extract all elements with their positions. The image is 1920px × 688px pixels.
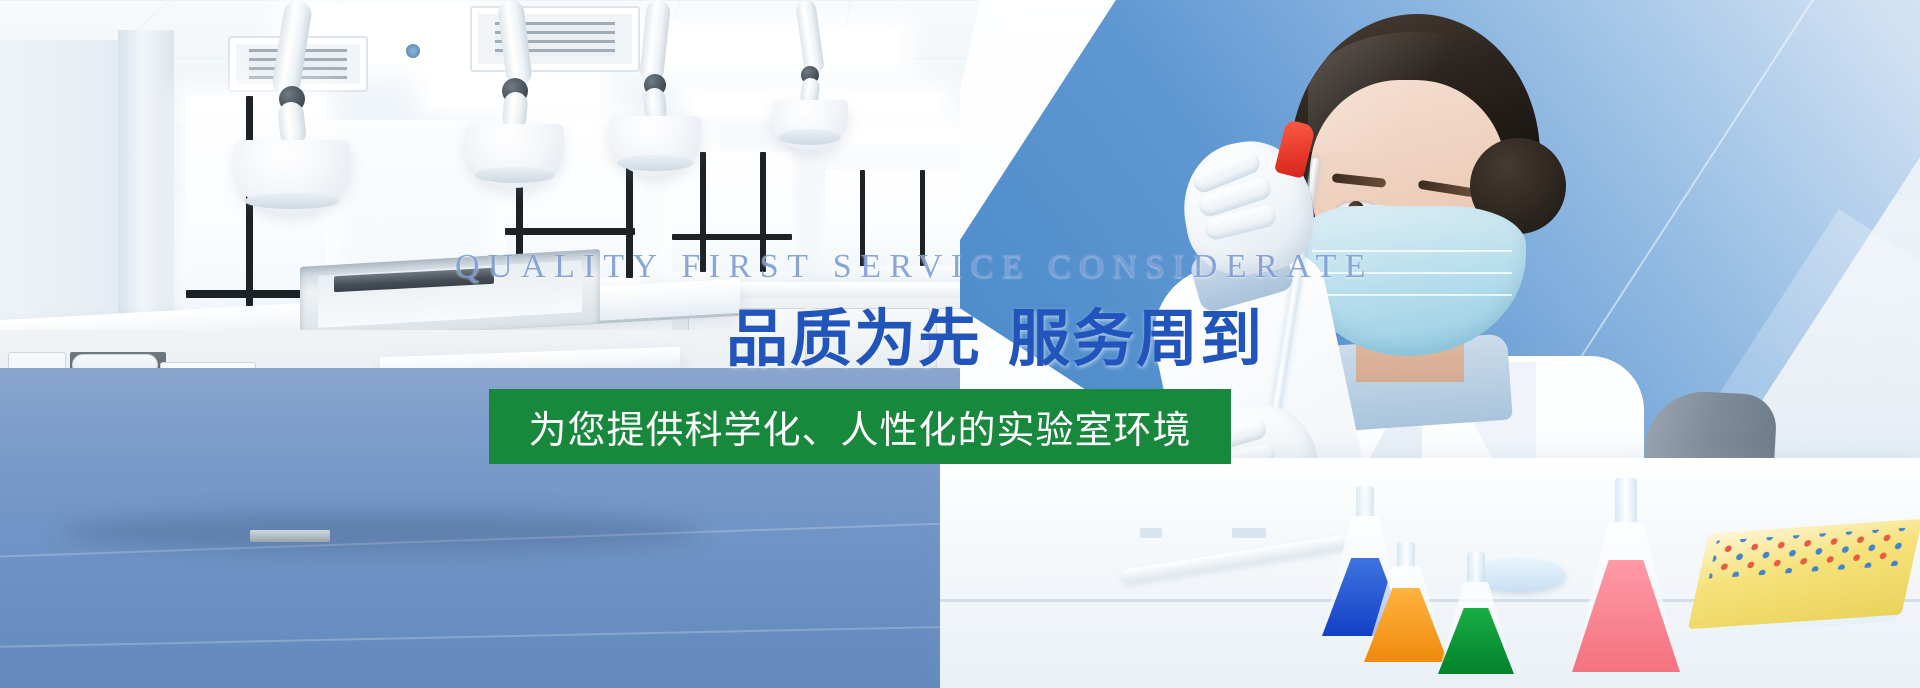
eyebrow-left [1332,173,1387,188]
fume-hood [234,140,350,214]
flask-orange [1364,566,1448,662]
table-label [1140,528,1162,538]
laboratory-photo [0,0,1920,688]
window-mullion [672,234,792,240]
mask-pleat [1312,272,1513,274]
hair-highlight [1308,32,1518,152]
fume-extraction-arm [600,0,710,150]
sprinkler-head [406,44,420,58]
mask-pleat [1312,294,1513,296]
eyebrow-right [1418,180,1475,198]
window-mullion [700,152,706,272]
bench-plinth [250,530,330,542]
fume-hood [609,116,701,176]
promo-banner: QUALITY FIRST SERVICE CONSIDERATE 品质为先服务… [0,0,1920,688]
window-mullion [920,170,925,266]
arm-segment [639,0,671,83]
arm-segment [795,0,825,75]
bench-shadow [60,512,700,552]
flask-neck [1467,552,1485,586]
pipette-tip-rack [1688,519,1920,629]
flask-green [1438,582,1514,674]
table-label [1232,528,1266,538]
window [826,170,976,266]
flask-neck [1356,486,1374,520]
window-mullion [505,228,635,235]
arm-segment [497,0,533,87]
flask-neck [1615,478,1637,526]
window-mullion [860,170,865,266]
window-mullion [760,152,766,272]
fume-extraction-arm [760,0,860,140]
tip-rack-wells [1709,527,1911,578]
window [672,152,792,272]
fume-extraction-arm [455,0,575,158]
mask-pleat [1312,250,1513,252]
fume-extraction-arm [232,0,352,170]
fume-hood [466,124,564,188]
flask-pink [1572,522,1680,672]
arm-segment [271,0,314,98]
flask-neck [1397,542,1415,570]
